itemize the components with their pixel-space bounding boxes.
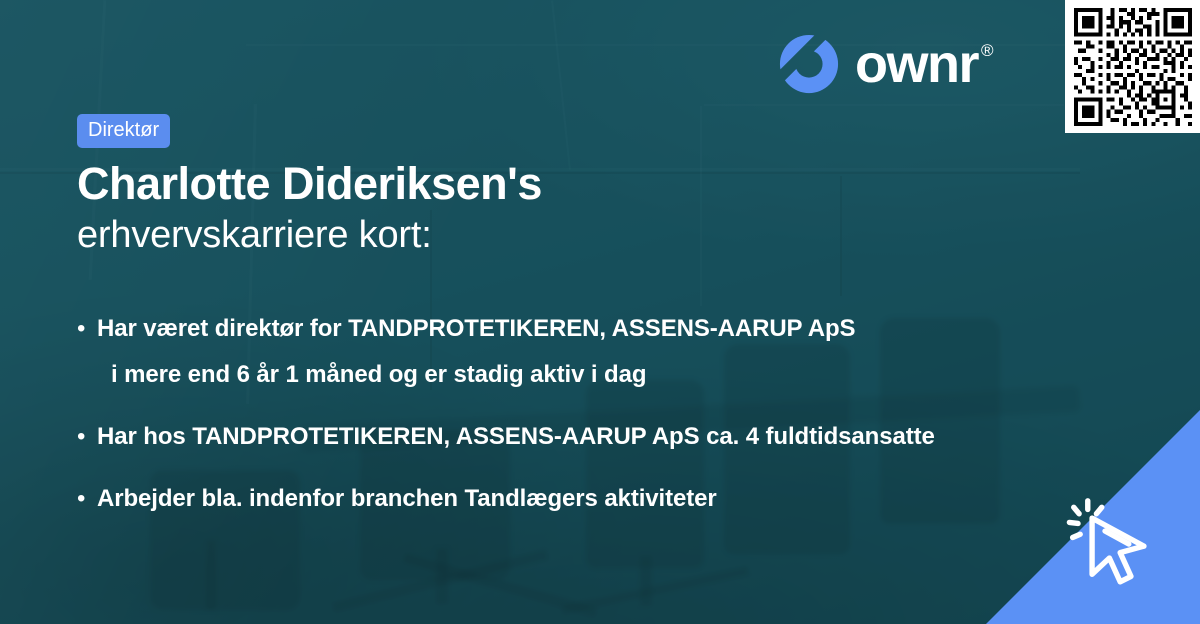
list-item-text: Arbejder bla. indenfor branchen Tandlæge… [97, 482, 717, 516]
list-item-line1: Arbejder bla. indenfor branchen Tandlæge… [97, 485, 717, 512]
list-item-text: Har hos TANDPROTETIKEREN, ASSENS-AARUP A… [97, 420, 935, 454]
ownr-circular-swirl-logo-icon [778, 33, 840, 95]
list-item: • Arbejder bla. indenfor branchen Tandlæ… [77, 482, 1067, 516]
ownr-wordmark-text: ownr [855, 37, 978, 91]
bullet-marker-icon: • [77, 312, 97, 346]
list-item-text: Har været direktør for TANDPROTETIKEREN,… [97, 312, 855, 392]
page-subtitle: erhvervskarriere kort: [77, 212, 432, 258]
role-badge: Direktør [77, 114, 170, 148]
qr-code-panel[interactable] [1065, 0, 1200, 133]
click-cursor-icon [1064, 490, 1172, 598]
qr-code[interactable] [1074, 8, 1192, 126]
list-item-line1: Har været direktør for TANDPROTETIKEREN,… [97, 315, 855, 342]
list-item-line2: i mere end 6 år 1 måned og er stadig akt… [97, 358, 855, 392]
ownr-logo: ownr ® [778, 33, 992, 95]
career-facts-list: • Har været direktør for TANDPROTETIKERE… [77, 312, 1067, 516]
business-career-card-banner: ownr ® [0, 0, 1200, 624]
bullet-marker-icon: • [77, 420, 97, 454]
registered-trademark-symbol: ® [981, 41, 992, 61]
bullet-marker-icon: • [77, 482, 97, 516]
list-item: • Har hos TANDPROTETIKEREN, ASSENS-AARUP… [77, 420, 1067, 454]
list-item: • Har været direktør for TANDPROTETIKERE… [77, 312, 1067, 392]
page-title: Charlotte Dideriksen's [77, 158, 542, 210]
list-item-line1: Har hos TANDPROTETIKEREN, ASSENS-AARUP A… [97, 423, 935, 450]
ownr-wordmark: ownr ® [855, 37, 992, 91]
